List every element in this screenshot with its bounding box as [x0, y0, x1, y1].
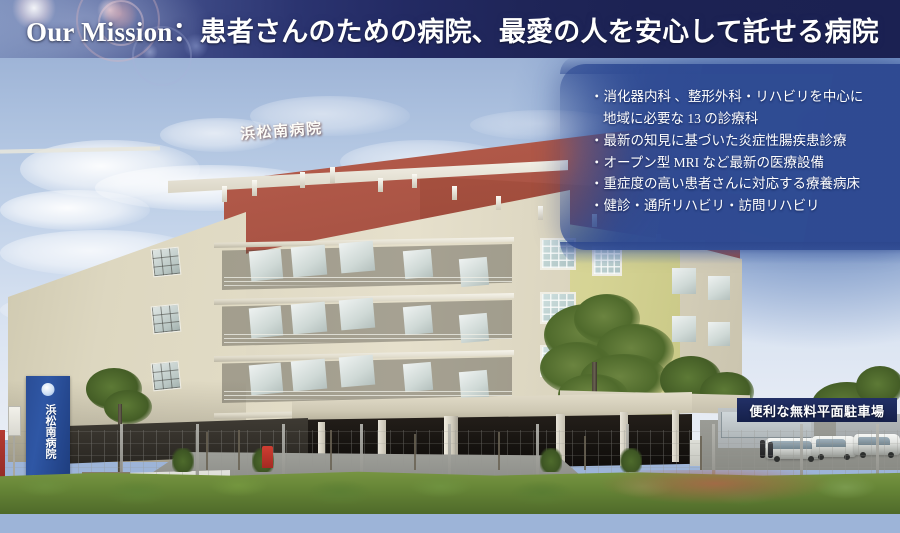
- bullet-item-2: ・最新の知見に基づいた炎症性腸疾患診療: [590, 130, 890, 152]
- info-panel-bottom-fade: [560, 242, 900, 264]
- window: [291, 302, 327, 335]
- hospital-logo-mark: [42, 383, 55, 396]
- shrub: [172, 448, 194, 472]
- roof-post: [538, 206, 543, 220]
- window: [291, 359, 327, 392]
- page-title: Our Mission：患者さんのための病院、最愛の人を安心して託せる病院: [0, 0, 900, 58]
- window: [403, 362, 433, 392]
- parking-banner: 便利な無料平面駐車場: [737, 398, 897, 422]
- window: [708, 322, 730, 346]
- sapling: [584, 436, 586, 470]
- hero-banner: 浜松南病院: [0, 0, 900, 533]
- bullet-item-4: ・重症度の高い患者さんに対応する療養病床: [590, 173, 890, 195]
- window: [151, 247, 182, 278]
- sapling: [700, 436, 702, 470]
- window: [339, 298, 375, 331]
- tree-small: [104, 390, 152, 424]
- roof-post: [252, 180, 257, 196]
- mission-bullet-list: ・消化器内科 、整形外科・リハビリを中心に 地域に必要な 13 の診療科 ・最新…: [590, 86, 890, 217]
- roof-post: [300, 172, 305, 188]
- roof-post: [222, 186, 227, 202]
- sapling: [238, 430, 240, 470]
- roof-post: [412, 174, 417, 188]
- bus-stop-sign: [8, 406, 21, 436]
- roof-post: [378, 178, 383, 192]
- window: [708, 276, 730, 300]
- hedge-red-foliage: [600, 470, 830, 504]
- sapling: [414, 434, 416, 470]
- bullet-item-3: ・オープン型 MRI など最新の医療設備: [590, 152, 890, 174]
- window: [339, 241, 375, 274]
- mailbox: [262, 446, 273, 468]
- shrub: [620, 448, 642, 472]
- window: [403, 305, 433, 335]
- bullet-item-1-line2: 地域に必要な 13 の診療科: [590, 108, 890, 130]
- sapling: [206, 432, 208, 470]
- window: [151, 304, 182, 335]
- window: [672, 268, 696, 294]
- window: [291, 245, 327, 278]
- window: [339, 355, 375, 388]
- shrub: [540, 448, 562, 472]
- roof-post: [330, 167, 335, 183]
- roof-post: [452, 186, 457, 200]
- window: [151, 361, 182, 392]
- bullet-item-1-line1: ・消化器内科 、整形外科・リハビリを中心に: [590, 86, 890, 108]
- monument-sign-text: 浜松南病院: [40, 400, 56, 462]
- bullet-item-5: ・健診・通所リハビリ・訪問リハビリ: [590, 195, 890, 217]
- sapling: [498, 432, 500, 470]
- roof-post: [496, 196, 501, 210]
- sapling: [330, 430, 332, 470]
